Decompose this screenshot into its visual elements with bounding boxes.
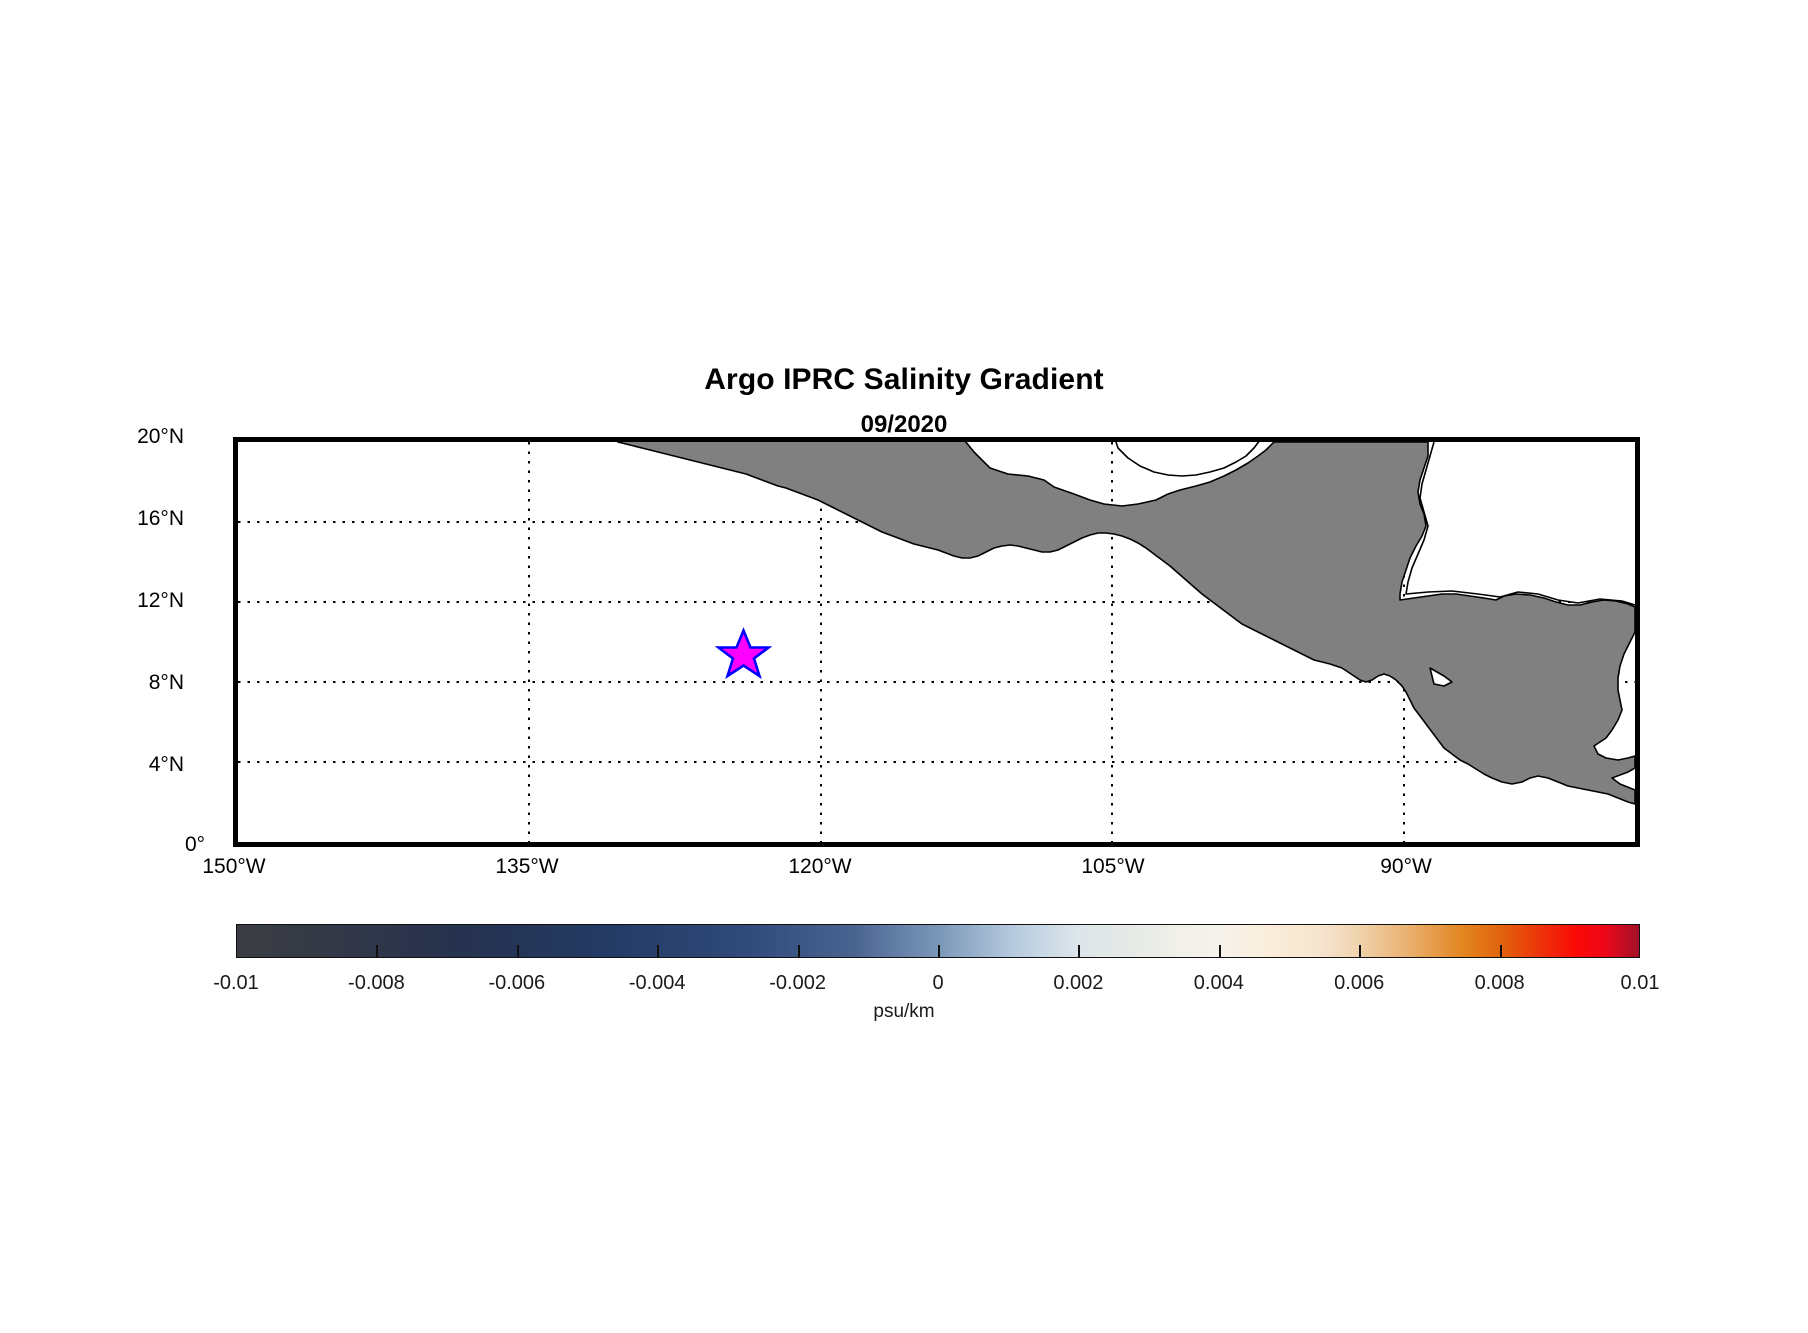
star-icon bbox=[719, 631, 769, 677]
xtick-label-105W: 105°W bbox=[1081, 855, 1144, 879]
colorbar-label-0: -0.01 bbox=[213, 972, 259, 995]
map-axes[interactable] bbox=[233, 437, 1640, 847]
ytick-label-0: 0° bbox=[185, 833, 205, 857]
colorbar-label-7: 0.004 bbox=[1194, 972, 1244, 995]
xtick-label-90W: 90°W bbox=[1380, 855, 1432, 879]
colorbar-unit-label: psu/km bbox=[0, 1001, 1808, 1023]
xtick-label-150W: 150°W bbox=[202, 855, 265, 879]
colorbar-label-5: 0 bbox=[932, 972, 943, 995]
colorbar-tick-6 bbox=[1219, 945, 1221, 958]
colorbar-tick-5 bbox=[1078, 945, 1080, 958]
land-polygons bbox=[610, 442, 1635, 804]
figure-canvas: Argo IPRC Salinity Gradient 09/2020 20°N… bbox=[0, 0, 1808, 1333]
colorbar-tick-2 bbox=[657, 945, 659, 958]
xtick-label-120W: 120°W bbox=[788, 855, 851, 879]
argo-float-marker[interactable] bbox=[719, 631, 769, 677]
colorbar-label-8: 0.006 bbox=[1334, 972, 1384, 995]
ytick-label-16N: 16°N bbox=[137, 507, 184, 531]
colorbar-tick-3 bbox=[798, 945, 800, 958]
colorbar-tick-1 bbox=[517, 945, 519, 958]
colorbar-label-3: -0.004 bbox=[629, 972, 686, 995]
colorbar-label-1: -0.008 bbox=[348, 972, 405, 995]
colorbar-label-9: 0.008 bbox=[1475, 972, 1525, 995]
colorbar[interactable] bbox=[236, 924, 1640, 958]
colorbar-tick-0 bbox=[376, 945, 378, 958]
colorbar-tick-8 bbox=[1500, 945, 1502, 958]
colorbar-tick-4 bbox=[938, 945, 940, 958]
colorbar-label-10: 0.01 bbox=[1621, 972, 1660, 995]
ytick-label-8N: 8°N bbox=[149, 671, 184, 695]
ytick-label-4N: 4°N bbox=[149, 753, 184, 777]
map-canvas bbox=[238, 442, 1635, 842]
colorbar-label-4: -0.002 bbox=[769, 972, 826, 995]
map-plot-area[interactable] bbox=[238, 442, 1635, 842]
colorbar-label-6: 0.002 bbox=[1053, 972, 1103, 995]
colorbar-tick-7 bbox=[1359, 945, 1361, 958]
chart-subtitle: 09/2020 bbox=[0, 411, 1808, 439]
ytick-label-20N: 20°N bbox=[137, 425, 184, 449]
ytick-label-12N: 12°N bbox=[137, 589, 184, 613]
page-title: Argo IPRC Salinity Gradient bbox=[0, 363, 1808, 397]
xtick-label-135W: 135°W bbox=[495, 855, 558, 879]
gulf-of-honduras-water bbox=[1406, 442, 1635, 605]
colorbar-label-2: -0.006 bbox=[488, 972, 545, 995]
